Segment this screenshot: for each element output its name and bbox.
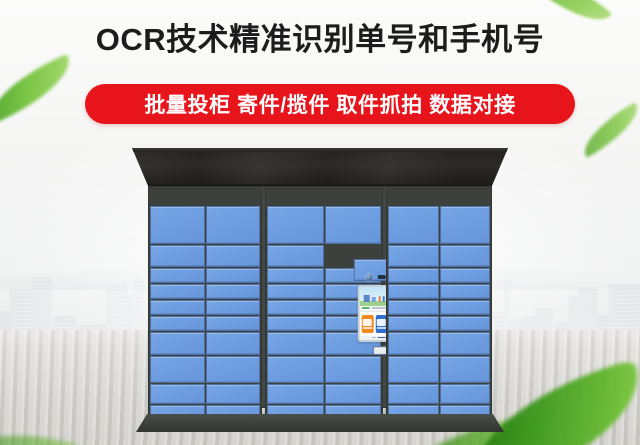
feature-pill-banner: 批量投柜 寄件/揽件 取件抓拍 数据对接 xyxy=(85,84,575,124)
right-section-door-grid xyxy=(388,206,490,416)
locker-row xyxy=(267,206,381,244)
locker-door[interactable] xyxy=(206,300,261,315)
locker-row xyxy=(150,356,260,384)
locker-row xyxy=(150,245,260,268)
locker-door[interactable] xyxy=(267,384,324,404)
locker-door[interactable] xyxy=(267,332,324,355)
locker-door[interactable] xyxy=(206,356,261,384)
locker-door[interactable] xyxy=(440,332,491,355)
locker-row xyxy=(388,300,490,315)
locker-door[interactable] xyxy=(150,384,205,404)
locker-door[interactable] xyxy=(206,245,261,268)
locker-door[interactable] xyxy=(150,332,205,355)
locker-row xyxy=(150,300,260,315)
locker-door[interactable] xyxy=(325,206,382,244)
locker-row xyxy=(267,384,381,404)
locker-row xyxy=(150,332,260,355)
locker-door[interactable] xyxy=(440,356,491,384)
locker-door[interactable] xyxy=(150,356,205,384)
locker-door[interactable] xyxy=(206,384,261,404)
locker-door[interactable] xyxy=(440,384,491,404)
locker-row xyxy=(267,245,381,268)
hero-building xyxy=(364,295,370,302)
locker-row xyxy=(388,316,490,331)
locker-door[interactable] xyxy=(150,245,205,268)
status-chip xyxy=(372,307,386,309)
locker-row xyxy=(388,356,490,384)
locker-door[interactable] xyxy=(267,316,324,331)
hero-person xyxy=(379,296,381,302)
left-section-door-grid xyxy=(150,206,260,416)
locker-row xyxy=(150,384,260,404)
locker-door[interactable] xyxy=(206,316,261,331)
deposit-button-label xyxy=(363,327,373,329)
locker-row xyxy=(267,356,381,384)
smart-parcel-locker xyxy=(140,148,500,418)
locker-door[interactable] xyxy=(388,300,439,315)
locker-door[interactable] xyxy=(440,284,491,299)
canopy-sheen xyxy=(132,150,508,184)
center-section-door-grid xyxy=(267,206,381,416)
locker-row xyxy=(388,268,490,283)
locker-door[interactable] xyxy=(150,300,205,315)
locker-door[interactable] xyxy=(388,245,439,268)
locker-row xyxy=(150,268,260,283)
locker-door[interactable] xyxy=(206,206,261,244)
footer-chip xyxy=(372,337,376,339)
locker-door[interactable] xyxy=(206,268,261,283)
locker-row xyxy=(388,206,490,244)
locker-door[interactable] xyxy=(150,206,205,244)
locker-door[interactable] xyxy=(267,356,324,384)
deposit-button-glyph-icon xyxy=(363,319,372,326)
locker-door[interactable] xyxy=(388,284,439,299)
locker-door[interactable] xyxy=(206,332,261,355)
pickup-button-glyph-icon xyxy=(377,319,386,326)
locker-door[interactable] xyxy=(440,268,491,283)
locker-door[interactable] xyxy=(150,284,205,299)
camera-lens-left-icon xyxy=(366,274,373,281)
hero-building xyxy=(372,297,376,302)
locker-row xyxy=(150,316,260,331)
locker-door[interactable] xyxy=(150,316,205,331)
left-section xyxy=(148,188,262,418)
locker-door[interactable] xyxy=(267,268,324,283)
locker-door[interactable] xyxy=(325,356,382,384)
locker-row xyxy=(388,332,490,355)
locker-row xyxy=(150,284,260,299)
deposit-button[interactable] xyxy=(362,315,374,333)
banner-stage: OCR技术精准识别单号和手机号 批量投柜 寄件/揽件 取件抓拍 数据对接 xyxy=(0,0,640,445)
locker-row xyxy=(388,245,490,268)
feature-pill-text: 批量投柜 寄件/揽件 取件抓拍 数据对接 xyxy=(144,89,515,119)
hero-person xyxy=(383,296,385,302)
pickup-button-label xyxy=(377,327,387,329)
base-plinth xyxy=(136,414,504,432)
locker-row xyxy=(388,384,490,404)
infrared-sensor-slot-icon xyxy=(378,275,386,279)
locker-door[interactable] xyxy=(440,316,491,331)
locker-door[interactable] xyxy=(267,284,324,299)
right-section xyxy=(386,188,492,418)
page-title: OCR技术精准识别单号和手机号 xyxy=(0,24,640,55)
locker-door[interactable] xyxy=(267,206,324,244)
status-chip xyxy=(362,307,370,309)
locker-row xyxy=(150,206,260,244)
locker-door[interactable] xyxy=(388,316,439,331)
canopy-front-lip xyxy=(132,148,508,152)
locker-door[interactable] xyxy=(388,384,439,404)
locker-door[interactable] xyxy=(388,356,439,384)
locker-door[interactable] xyxy=(388,332,439,355)
locker-door[interactable] xyxy=(325,384,382,404)
locker-door[interactable] xyxy=(388,268,439,283)
center-section xyxy=(265,188,383,418)
locker-door[interactable] xyxy=(388,206,439,244)
locker-row xyxy=(388,284,490,299)
locker-door[interactable] xyxy=(150,268,205,283)
footer-chip xyxy=(378,337,386,339)
locker-door[interactable] xyxy=(267,245,324,268)
locker-door[interactable] xyxy=(206,284,261,299)
locker-door[interactable] xyxy=(440,245,491,268)
locker-door[interactable] xyxy=(440,206,491,244)
locker-door[interactable] xyxy=(267,300,324,315)
locker-door[interactable] xyxy=(440,300,491,315)
